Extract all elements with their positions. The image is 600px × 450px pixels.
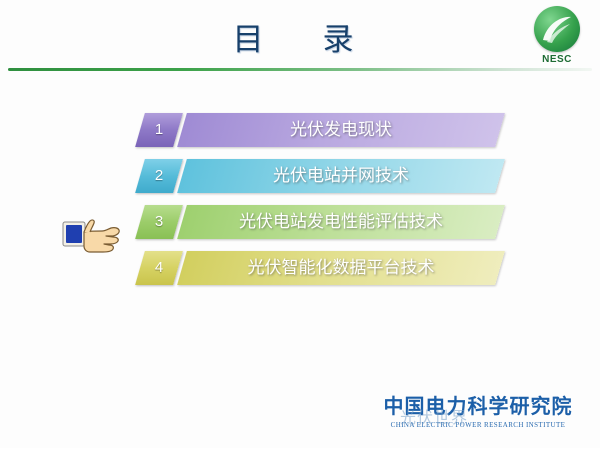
agenda-number: 2 — [140, 159, 178, 193]
logo-label: NESC — [528, 54, 586, 65]
organization-logo: NESC — [528, 6, 586, 70]
agenda-label: 光伏智能化数据平台技术 — [182, 251, 500, 285]
agenda-number-badge: 2 — [135, 159, 183, 193]
agenda-label: 光伏电站发电性能评估技术 — [182, 205, 500, 239]
footer-institute-cn: 中国电力科学研究院 — [368, 390, 588, 419]
list-item[interactable]: 1 光伏发电现状 — [140, 113, 500, 147]
header-divider — [8, 68, 592, 71]
slide: 目 录 NESC 1 光伏发电现状 2 光伏电站并网技术 — [0, 0, 600, 450]
list-item[interactable]: 2 光伏电站并网技术 — [140, 159, 500, 193]
agenda-number-badge: 4 — [135, 251, 183, 285]
agenda-list: 1 光伏发电现状 2 光伏电站并网技术 3 光伏电站发电性能评估技术 4 光伏智… — [140, 113, 500, 297]
pointing-hand-icon — [62, 212, 124, 258]
list-item[interactable]: 4 光伏智能化数据平台技术 — [140, 251, 500, 285]
agenda-number: 4 — [140, 251, 178, 285]
agenda-label: 光伏电站并网技术 — [182, 159, 500, 193]
agenda-number: 1 — [140, 113, 178, 147]
leaf-swoosh-icon — [541, 14, 573, 44]
agenda-number: 3 — [140, 205, 178, 239]
page-title: 目 录 — [0, 14, 600, 59]
agenda-number-badge: 3 — [135, 205, 183, 239]
agenda-label: 光伏发电现状 — [182, 113, 500, 147]
agenda-number-badge: 1 — [135, 113, 183, 147]
footer-institute-en: CHINA ELECTRIC POWER RESEARCH INSTITUTE — [368, 421, 588, 429]
list-item[interactable]: 3 光伏电站发电性能评估技术 — [140, 205, 500, 239]
footer: 中国电力科学研究院 CHINA ELECTRIC POWER RESEARCH … — [368, 390, 588, 429]
nesc-leaf-logo-icon — [534, 6, 580, 52]
